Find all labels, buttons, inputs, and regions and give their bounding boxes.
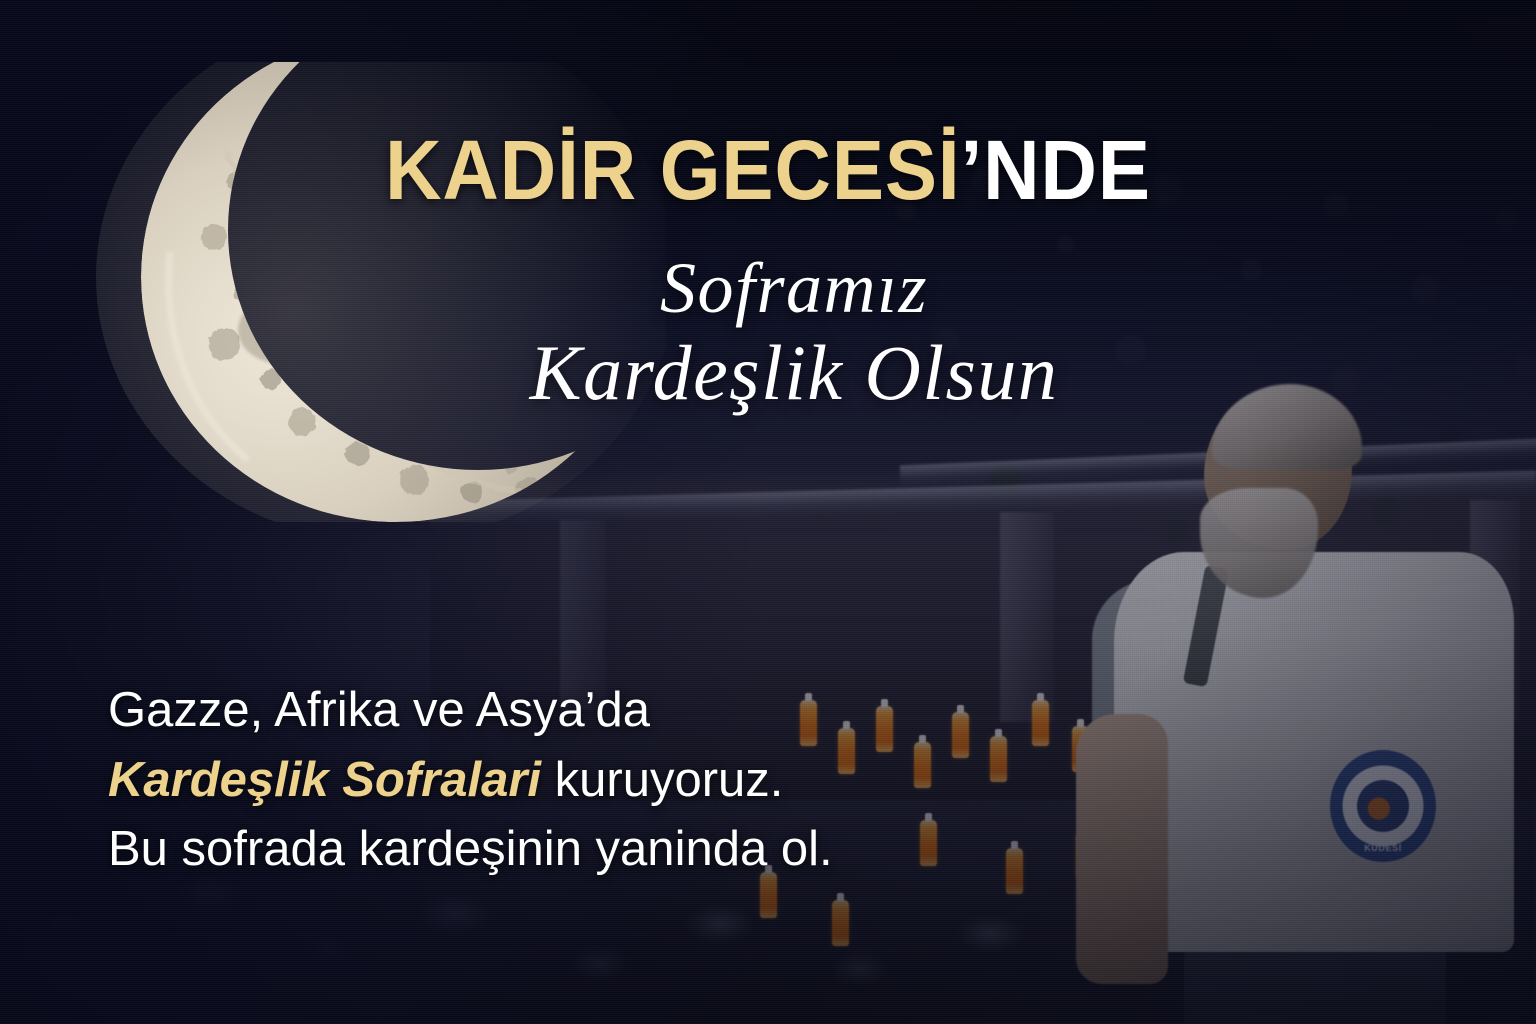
body-line-1: Gazze, Afrika ve Asya’da <box>108 676 1168 746</box>
page-title: KADİR GECESİ’NDE <box>54 128 1482 212</box>
body-copy: Gazze, Afrika ve Asya’da Kardeşlik Sofra… <box>108 676 1168 885</box>
body-line-2-rest: kuruyoruz. <box>541 753 783 807</box>
subtitle-line-2: Kardeşlik Olsun <box>0 329 1536 416</box>
headline-white-text: ’NDE <box>961 123 1151 217</box>
poster-canvas: KUDESİ <box>0 0 1536 1024</box>
subtitle: Soframız Kardeşlik Olsun <box>0 248 1536 416</box>
headline-gold-text: KADİR GECESİ <box>385 123 960 217</box>
body-line-3: Bu sofrada kardeşinin yaninda ol. <box>108 815 1168 885</box>
body-highlight-phrase: Kardeşlik Sofralari <box>108 753 541 807</box>
body-line-2: Kardeşlik Sofralari kuruyoruz. <box>108 746 1168 816</box>
subtitle-line-1: Soframız <box>660 248 928 328</box>
